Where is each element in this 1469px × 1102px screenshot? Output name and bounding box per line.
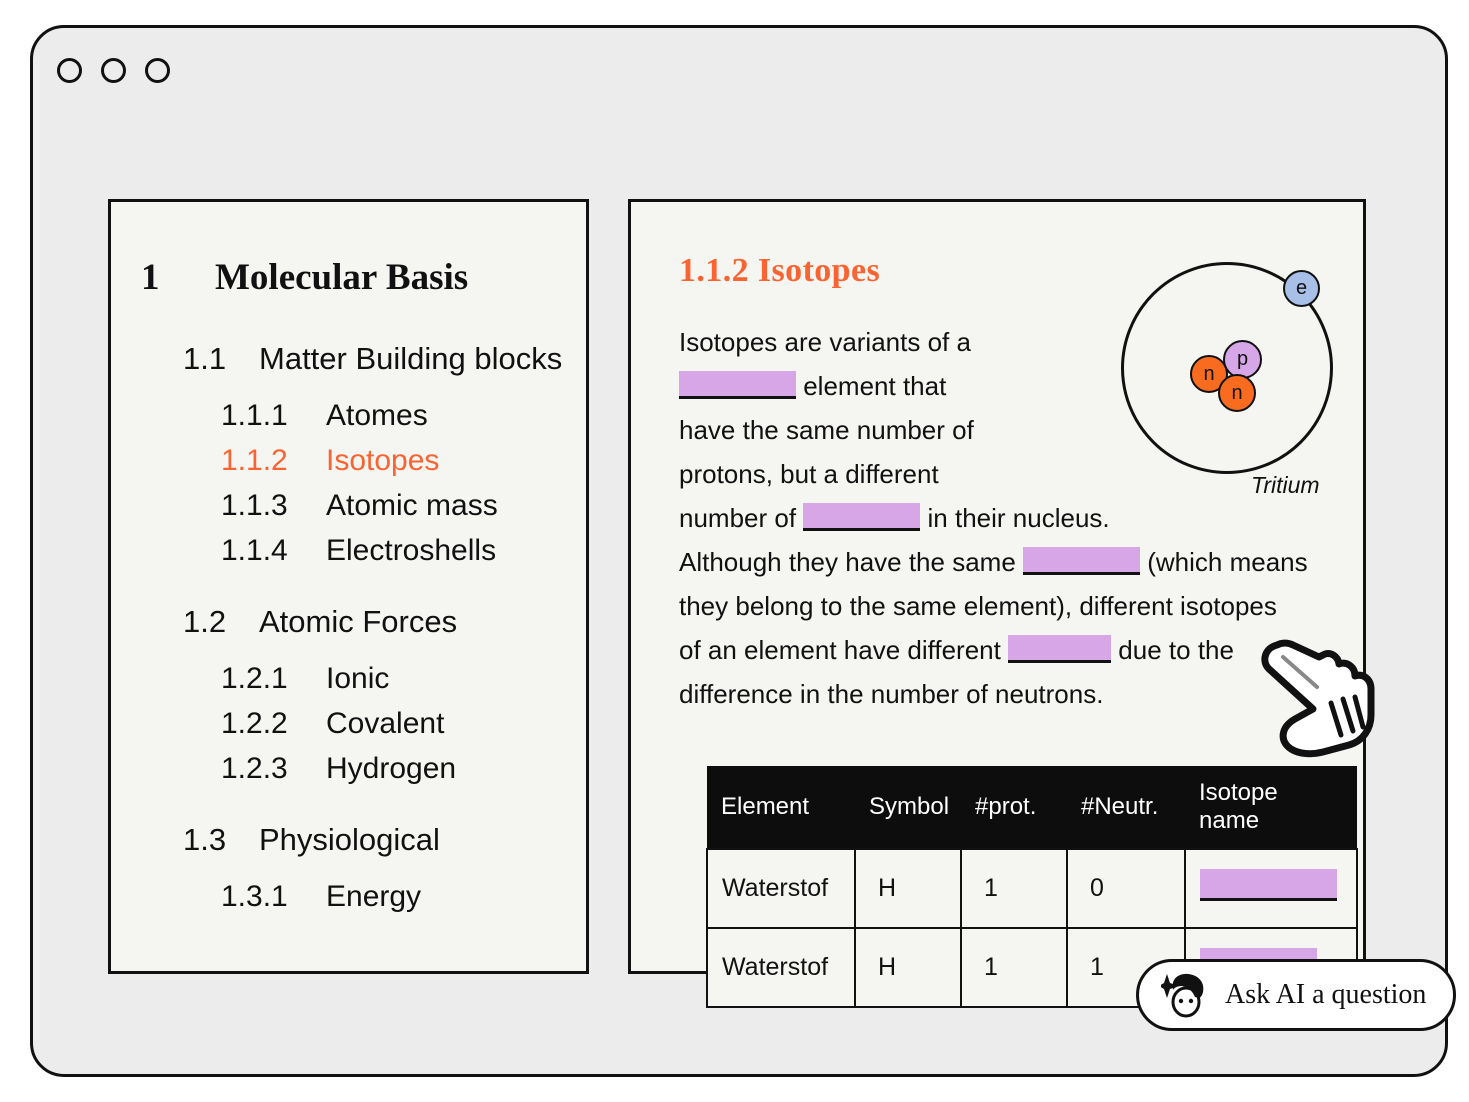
fill-in-blank-3[interactable] <box>1023 547 1140 575</box>
toc-item-label: Covalent <box>326 707 444 741</box>
fill-in-blank-4[interactable] <box>1008 635 1111 663</box>
paragraph-text: element that <box>796 371 946 401</box>
column-header-element: Element <box>707 766 855 849</box>
fill-in-blank-1[interactable] <box>679 371 796 399</box>
toc-item-label: Hydrogen <box>326 752 456 786</box>
toc-section-number: 1.3 <box>183 822 259 858</box>
paragraph-text: Although they have the same <box>679 547 1023 577</box>
table-of-contents-panel: 1 Molecular Basis 1.1 Matter Building bl… <box>108 199 589 974</box>
toc-item-number: 1.2.1 <box>221 662 326 696</box>
paragraph-line: number of in their nucleus. <box>679 496 1339 540</box>
toc-item-label: Atomic mass <box>326 489 498 523</box>
toc-chapter-label: Molecular Basis <box>215 256 468 299</box>
ai-avatar-icon <box>1161 970 1211 1020</box>
toc-item-label: Ionic <box>326 662 389 696</box>
app-window: 1 Molecular Basis 1.1 Matter Building bl… <box>30 25 1448 1077</box>
toc-section-number: 1.2 <box>183 604 259 640</box>
column-header-isotope-name: Isotope name <box>1185 766 1357 849</box>
window-titlebar <box>33 28 1445 116</box>
paragraph-text: they belong to the same element), differ… <box>679 591 1277 621</box>
toc-item-label: Atomes <box>326 399 428 433</box>
sidebar-item-atomic-forces[interactable]: 1.2 Atomic Forces <box>183 604 556 640</box>
paragraph-text: (which means <box>1140 547 1308 577</box>
close-dot-icon[interactable] <box>57 58 82 83</box>
ask-ai-label: Ask AI a question <box>1225 979 1426 1011</box>
toc-item-number: 1.1.3 <box>221 489 326 523</box>
toc-group-1-2: 1.2 Atomic Forces 1.2.1 Ionic 1.2.2 Cova… <box>141 604 556 786</box>
toc-item-label: Electroshells <box>326 534 496 568</box>
toc-item-number: 1.2.2 <box>221 707 326 741</box>
fill-in-blank-2[interactable] <box>803 503 920 531</box>
toc-chapter-number: 1 <box>141 256 215 299</box>
toc-item-number: 1.1.2 <box>221 444 326 478</box>
sidebar-item-matter-building-blocks[interactable]: 1.1 Matter Building blocks <box>183 341 556 377</box>
cell-symbol: H <box>855 849 961 928</box>
window-controls <box>57 58 170 83</box>
sidebar-item-ionic[interactable]: 1.2.1 Ionic <box>221 662 556 696</box>
cell-protons: 1 <box>961 849 1067 928</box>
paragraph-text: due to the <box>1111 635 1234 665</box>
toc-item-number: 1.2.3 <box>221 752 326 786</box>
paragraph-text: difference in the number of neutrons. <box>679 679 1103 709</box>
sidebar-item-electroshells[interactable]: 1.1.4 Electroshells <box>221 534 556 568</box>
paragraph-text: have the same number of <box>679 415 974 445</box>
sidebar-item-atomes[interactable]: 1.1.1 Atomes <box>221 399 556 433</box>
paragraph-text: of an element have different <box>679 635 1008 665</box>
paragraph-text: in their nucleus. <box>920 503 1109 533</box>
atom-diagram: e n p n Tritium <box>1099 250 1361 492</box>
toc-section-label: Matter Building blocks <box>259 341 562 377</box>
sidebar-item-atomic-mass[interactable]: 1.1.3 Atomic mass <box>221 489 556 523</box>
cell-element: Waterstof <box>707 849 855 928</box>
paragraph-text: number of <box>679 503 803 533</box>
toc-group-1-1: 1.1 Matter Building blocks 1.1.1 Atomes … <box>141 341 556 568</box>
neutron-particle-icon: n <box>1218 374 1256 412</box>
sidebar-item-isotopes[interactable]: 1.1.2 Isotopes <box>221 444 556 478</box>
lesson-content: 1.1.2 Isotopes Isotopes are variants of … <box>631 202 1363 971</box>
toc-chapter-heading[interactable]: 1 Molecular Basis <box>141 256 556 299</box>
paragraph-text: protons, but a different <box>679 459 939 489</box>
cell-element: Waterstof <box>707 928 855 1007</box>
column-header-symbol: Symbol <box>855 766 961 849</box>
toc-item-number: 1.1.1 <box>221 399 326 433</box>
ask-ai-button[interactable]: Ask AI a question <box>1136 959 1456 1031</box>
toc-group-1-3: 1.3 Physiological 1.3.1 Energy <box>141 822 556 914</box>
toc-item-label: Energy <box>326 880 421 914</box>
toc-section-label: Atomic Forces <box>259 604 457 640</box>
sidebar-item-physiological[interactable]: 1.3 Physiological <box>183 822 556 858</box>
fill-in-blank-table-1[interactable] <box>1200 869 1337 901</box>
toc-item-number: 1.1.4 <box>221 534 326 568</box>
toc-item-label: Isotopes <box>326 444 439 478</box>
toc-list: 1 Molecular Basis 1.1 Matter Building bl… <box>111 202 586 914</box>
toc-section-label: Physiological <box>259 822 440 858</box>
minimize-dot-icon[interactable] <box>101 58 126 83</box>
paragraph-text: Isotopes are variants of a <box>679 327 971 357</box>
paragraph-line: Although they have the same (which means <box>679 540 1339 584</box>
cell-isotope-name[interactable] <box>1185 849 1357 928</box>
atom-diagram-label: Tritium <box>1251 472 1320 499</box>
column-header-protons: #prot. <box>961 766 1067 849</box>
column-header-neutrons: #Neutr. <box>1067 766 1185 849</box>
proton-particle-icon: p <box>1223 340 1262 379</box>
table-row: Waterstof H 1 0 <box>707 849 1357 928</box>
sidebar-item-hydrogen[interactable]: 1.2.3 Hydrogen <box>221 752 556 786</box>
paragraph-line: they belong to the same element), differ… <box>679 584 1339 628</box>
lesson-content-panel: 1.1.2 Isotopes Isotopes are variants of … <box>628 199 1366 974</box>
sidebar-item-energy[interactable]: 1.3.1 Energy <box>221 880 556 914</box>
table-header-row: Element Symbol #prot. #Neutr. Isotope na… <box>707 766 1357 849</box>
maximize-dot-icon[interactable] <box>145 58 170 83</box>
cell-symbol: H <box>855 928 961 1007</box>
toc-section-number: 1.1 <box>183 341 259 377</box>
paragraph-line: of an element have different due to the <box>679 628 1339 672</box>
paragraph-line: difference in the number of neutrons. <box>679 672 1339 716</box>
electron-particle-icon: e <box>1283 270 1320 307</box>
toc-item-number: 1.3.1 <box>221 880 326 914</box>
cell-protons: 1 <box>961 928 1067 1007</box>
cell-neutrons: 0 <box>1067 849 1185 928</box>
screenshot-root: 1 Molecular Basis 1.1 Matter Building bl… <box>0 0 1469 1102</box>
sidebar-item-covalent[interactable]: 1.2.2 Covalent <box>221 707 556 741</box>
